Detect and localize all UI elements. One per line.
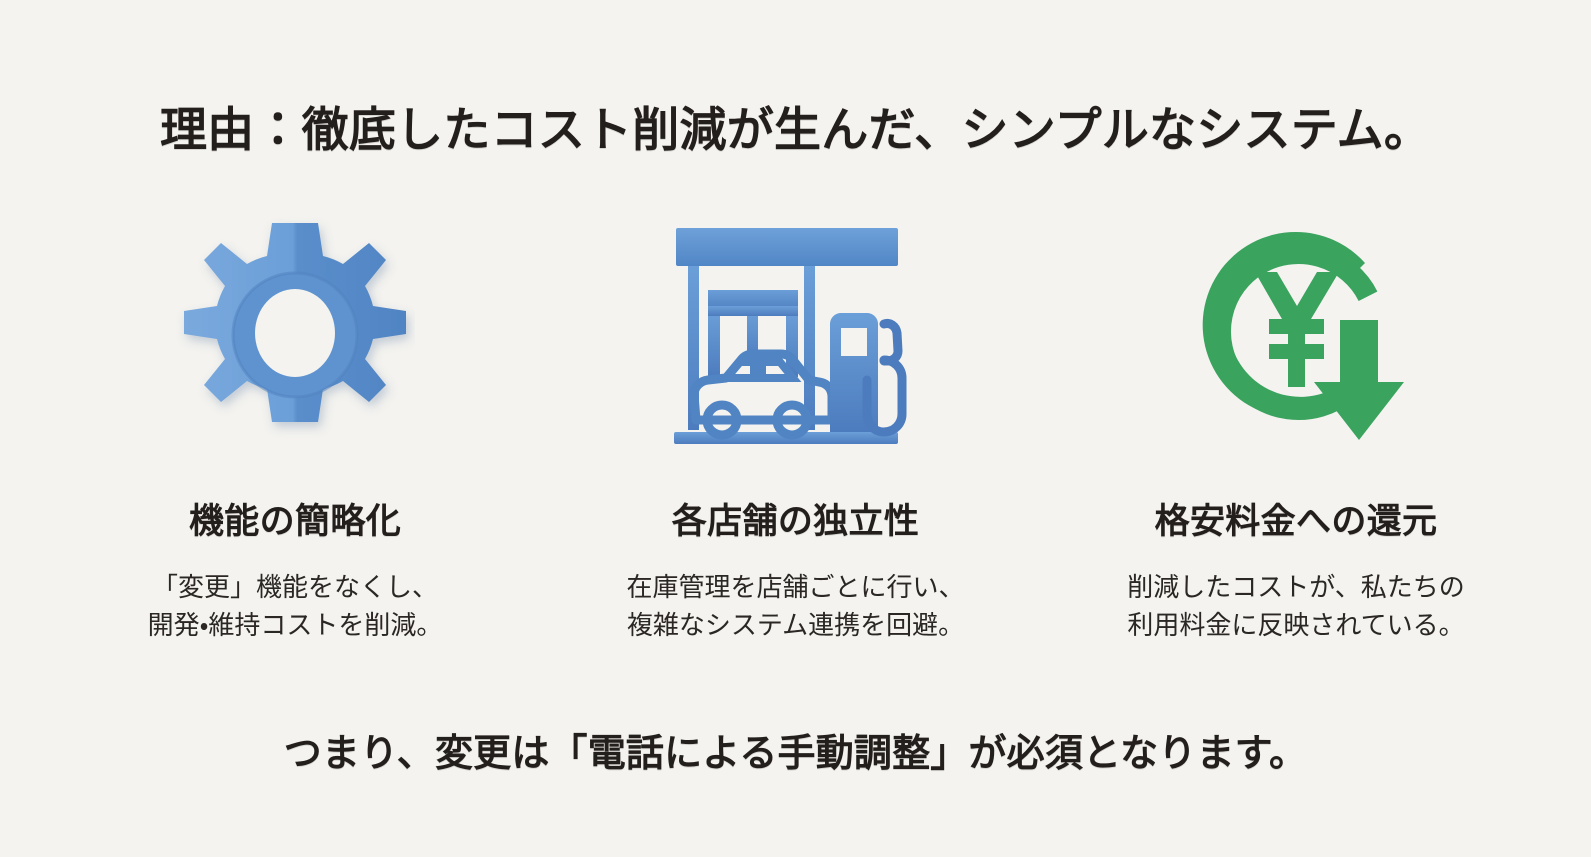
feature-body-2-line-1: 在庫管理を店舗ごとに行い、 bbox=[626, 568, 964, 606]
feature-column-1: 機能の簡略化 「変更」機能をなくし、 開発・維持コストを削減。 bbox=[60, 215, 530, 644]
feature-column-3: 格安料金への還元 削減したコストが、私たちの 利用料金に反映されている。 bbox=[1061, 215, 1531, 644]
feature-body-1-line-1: 「変更」機能をなくし、 bbox=[148, 568, 443, 606]
feature-body-3: 削減したコストが、私たちの 利用料金に反映されている。 bbox=[1127, 568, 1464, 645]
feature-body-3-line-1: 削減したコストが、私たちの bbox=[1127, 568, 1464, 606]
feature-heading-2: 各店舗の独立性 bbox=[672, 503, 919, 542]
feature-body-2-line-2: 複雑なシステム連携を回避。 bbox=[626, 606, 964, 644]
slide-root: 理由：徹底したコスト削減が生んだ、シンプルなシステム。 bbox=[0, 0, 1591, 857]
gas-station-icon bbox=[666, 215, 926, 455]
page-title: 理由：徹底したコスト削減が生んだ、シンプルなシステム。 bbox=[0, 103, 1591, 158]
feature-body-1: 「変更」機能をなくし、 開発・維持コストを削減。 bbox=[148, 568, 443, 645]
feature-heading-3: 格安料金への還元 bbox=[1155, 503, 1438, 542]
feature-heading-1: 機能の簡略化 bbox=[189, 503, 401, 542]
feature-body-3-line-2: 利用料金に反映されている。 bbox=[1127, 606, 1464, 644]
gear-icon bbox=[175, 215, 415, 455]
conclusion-text: つまり、変更は「電話による手動調整」が必須となります。 bbox=[0, 722, 1591, 777]
yen-cost-down-icon bbox=[1181, 215, 1411, 455]
feature-body-1-line-2: 開発・維持コストを削減。 bbox=[148, 606, 443, 644]
feature-body-2: 在庫管理を店舗ごとに行い、 複雑なシステム連携を回避。 bbox=[626, 568, 964, 645]
feature-columns: 機能の簡略化 「変更」機能をなくし、 開発・維持コストを削減。 bbox=[60, 215, 1531, 644]
feature-column-2: 各店舗の独立性 在庫管理を店舗ごとに行い、 複雑なシステム連携を回避。 bbox=[561, 215, 1031, 644]
